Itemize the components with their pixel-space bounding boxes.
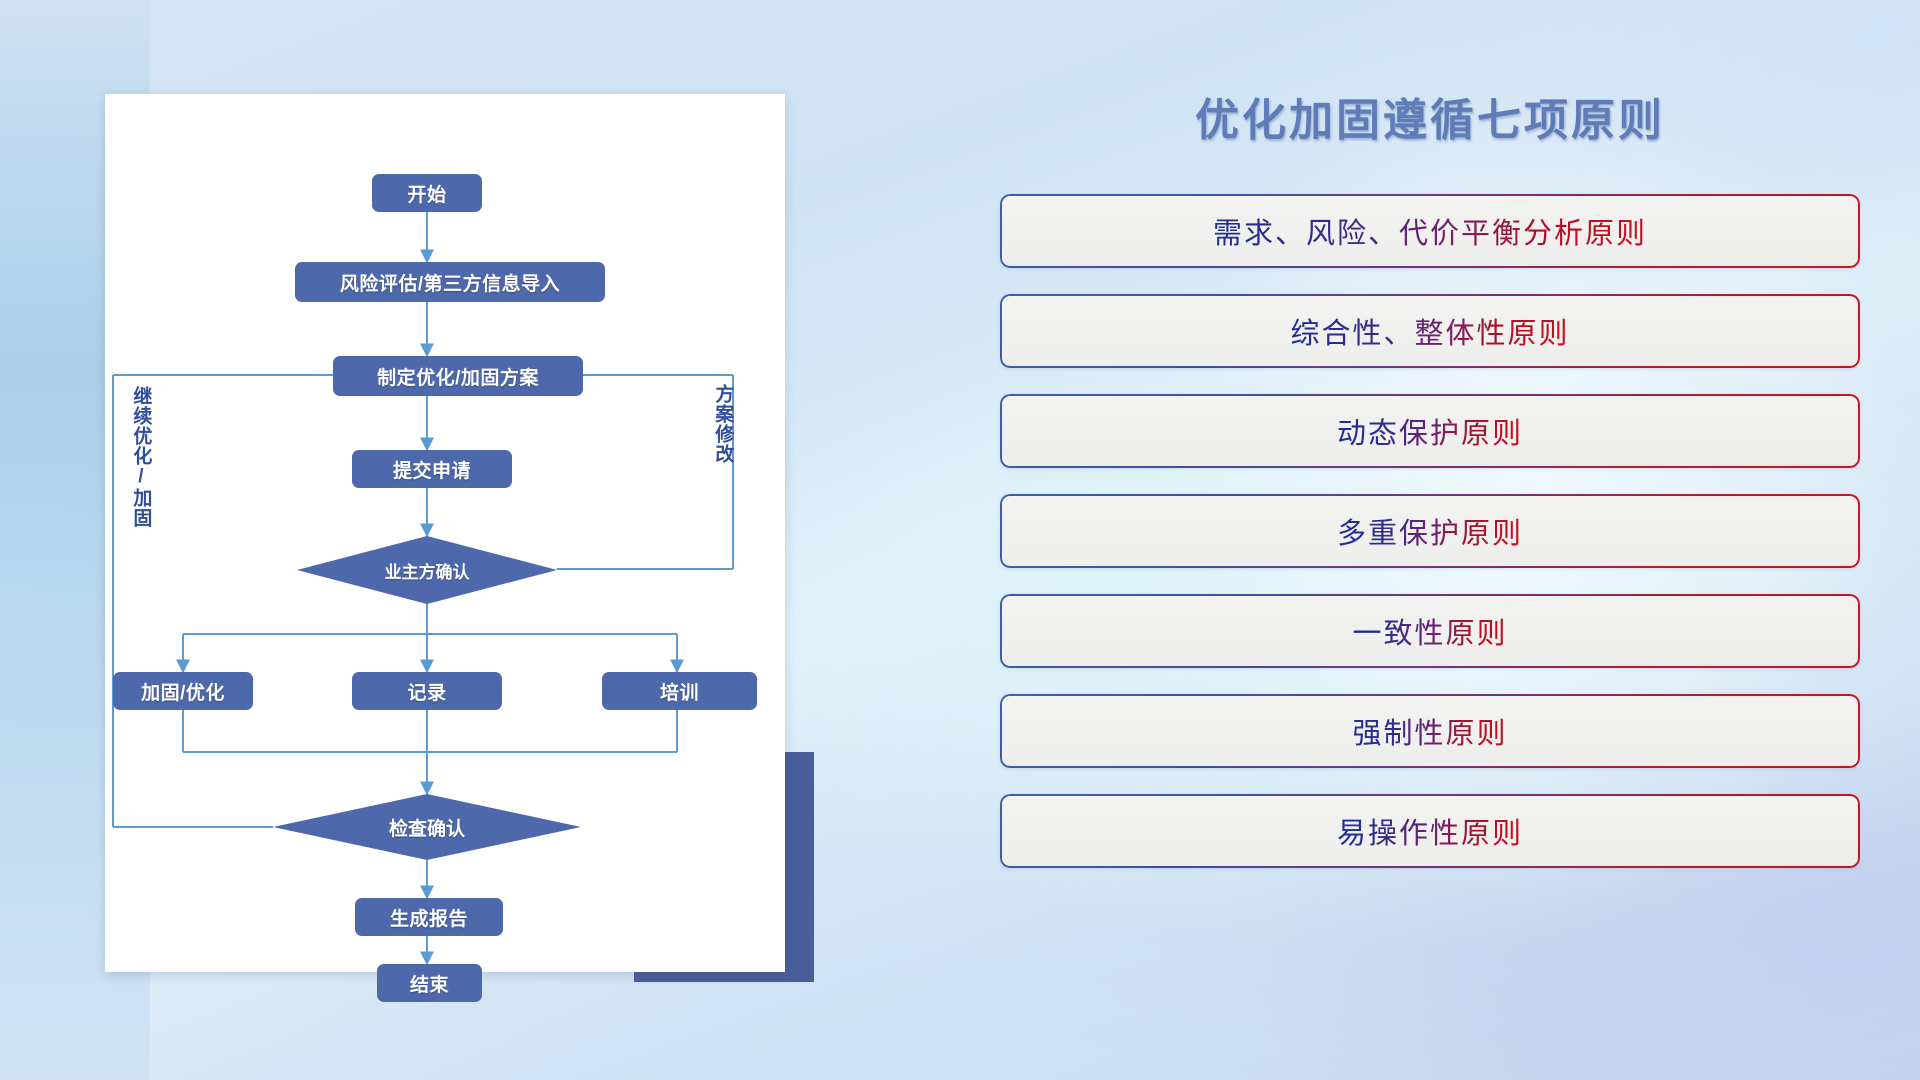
flow-edge-label-plan-revision: 方案修改 [713,384,732,464]
principle-label-7: 易操作性原则 [1337,810,1523,852]
flow-node-training[interactable]: 培训 [602,672,757,710]
panel-title: 优化加固遵循七项原则 [1000,84,1860,148]
principle-label-2: 综合性、整体性原则 [1290,310,1569,352]
principle-label-6: 强制性原则 [1352,710,1507,752]
flowchart-card: 开始 风险评估/第三方信息导入 制定优化/加固方案 提交申请 业主方确认 加固/… [105,94,785,972]
principle-item-7[interactable]: 易操作性原则 [1000,794,1860,868]
flow-node-risk-assessment[interactable]: 风险评估/第三方信息导入 [295,262,605,302]
flow-node-report[interactable]: 生成报告 [355,898,503,936]
principle-label-1: 需求、风险、代价平衡分析原则 [1213,210,1647,252]
principle-item-5[interactable]: 一致性原则 [1000,594,1860,668]
principle-item-1[interactable]: 需求、风险、代价平衡分析原则 [1000,194,1860,268]
flow-node-owner-confirm-label: 业主方确认 [297,536,557,604]
flow-node-check-confirm-label: 检查确认 [273,794,581,860]
principle-item-6[interactable]: 强制性原则 [1000,694,1860,768]
flow-node-reinforce[interactable]: 加固/优化 [113,672,253,710]
principle-item-2[interactable]: 综合性、整体性原则 [1000,294,1860,368]
flow-node-submit[interactable]: 提交申请 [352,450,512,488]
flow-node-end[interactable]: 结束 [377,964,482,1002]
principle-item-4[interactable]: 多重保护原则 [1000,494,1860,568]
principles-panel: 优化加固遵循七项原则 需求、风险、代价平衡分析原则 综合性、整体性原则 动态保护… [1000,84,1860,1004]
flow-node-start[interactable]: 开始 [372,174,482,212]
principle-label-4: 多重保护原则 [1337,510,1523,552]
flow-node-plan[interactable]: 制定优化/加固方案 [333,356,583,396]
flow-node-record[interactable]: 记录 [352,672,502,710]
principle-label-3: 动态保护原则 [1337,410,1523,452]
principle-label-5: 一致性原则 [1352,610,1507,652]
flow-edge-label-continue-optimize: 继续优化/加固 [131,386,150,528]
principle-item-3[interactable]: 动态保护原则 [1000,394,1860,468]
